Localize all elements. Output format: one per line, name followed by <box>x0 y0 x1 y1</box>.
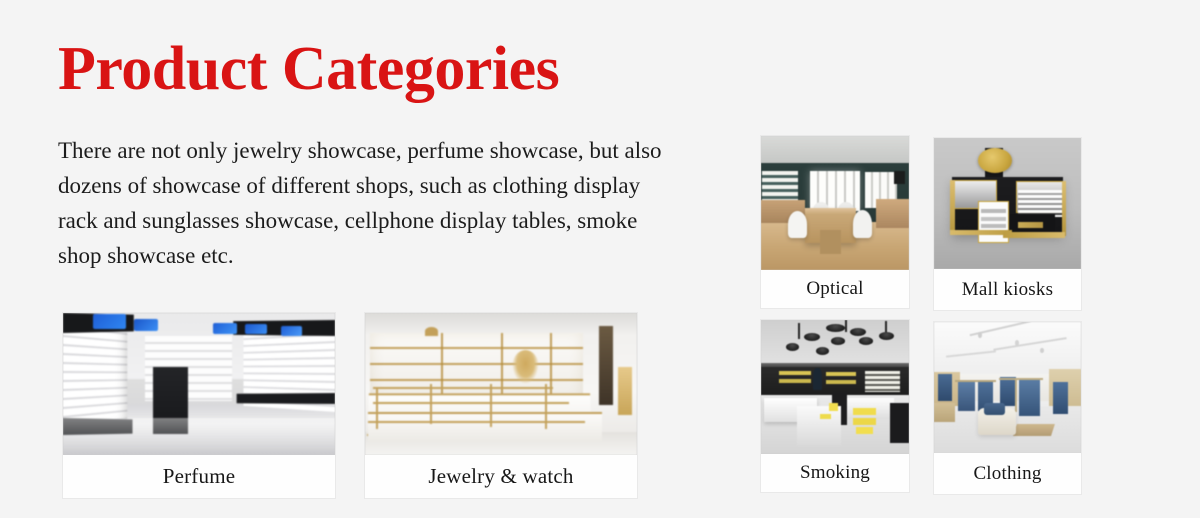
category-image-smoking[interactable] <box>761 320 909 454</box>
category-image-perfume[interactable] <box>63 313 335 455</box>
category-label-perfume[interactable]: Perfume <box>63 455 335 498</box>
category-image-mall-kiosks[interactable] <box>934 138 1081 269</box>
category-card-mall-kiosks[interactable]: Mall kiosks <box>934 138 1081 310</box>
category-card-jewelry[interactable]: Jewelry & watch <box>365 313 637 498</box>
category-card-smoking[interactable]: Smoking <box>761 320 909 492</box>
product-categories-section: Product Categories There are not only je… <box>0 0 1200 518</box>
category-card-perfume[interactable]: Perfume <box>63 313 335 498</box>
category-image-optical[interactable] <box>761 136 909 270</box>
category-label-clothing[interactable]: Clothing <box>934 453 1081 494</box>
category-label-mall-kiosks[interactable]: Mall kiosks <box>934 269 1081 310</box>
intro-paragraph: There are not only jewelry showcase, per… <box>58 133 683 273</box>
category-card-optical[interactable]: Optical <box>761 136 909 308</box>
category-label-jewelry[interactable]: Jewelry & watch <box>365 455 637 498</box>
page-title: Product Categories <box>58 38 559 100</box>
category-card-clothing[interactable]: Clothing <box>934 322 1081 494</box>
category-image-jewelry[interactable] <box>365 313 637 455</box>
category-label-optical[interactable]: Optical <box>761 270 909 308</box>
category-label-smoking[interactable]: Smoking <box>761 454 909 492</box>
category-image-clothing[interactable] <box>934 322 1081 453</box>
